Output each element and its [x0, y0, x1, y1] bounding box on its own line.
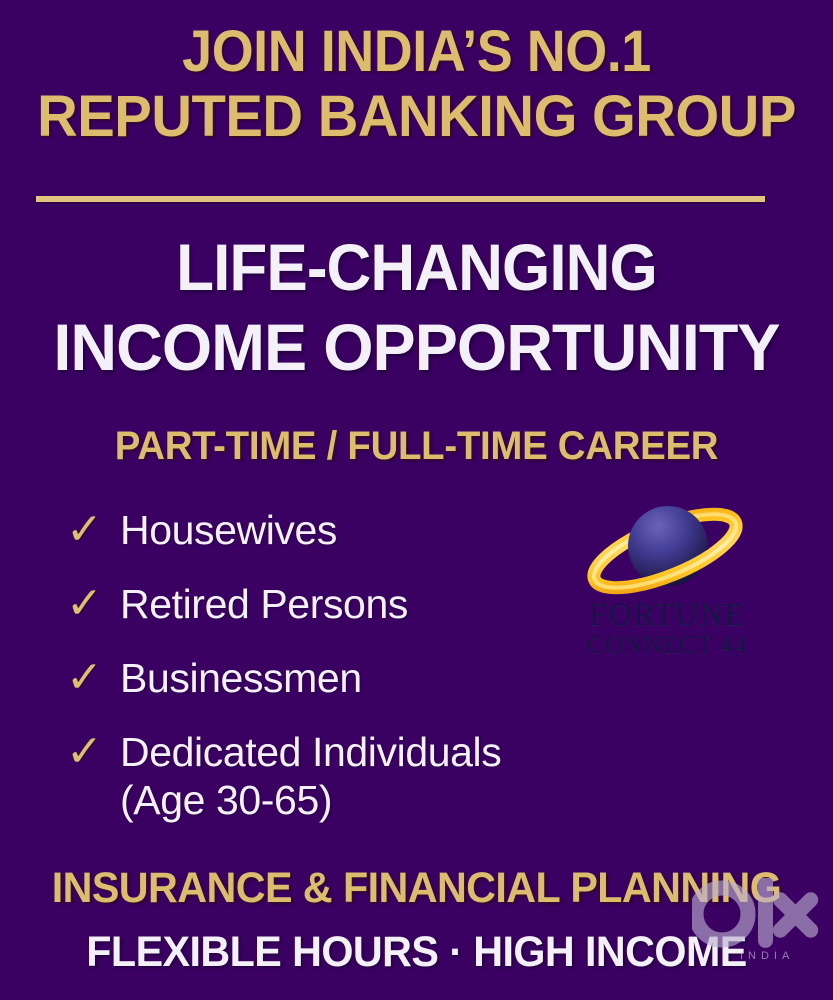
- saturn-planet-svg: [570, 498, 760, 603]
- gold-divider: [36, 196, 765, 202]
- list-item-label: Housewives: [120, 506, 337, 554]
- logo-wordmark: FORTUNE CONNECT 44: [560, 598, 775, 659]
- header-line-2: REPUTED BANKING GROUP: [12, 87, 820, 146]
- list-item: ✓ Businessmen: [66, 654, 626, 704]
- header-block: JOIN INDIA’S NO.1 REPUTED BANKING GROUP: [0, 22, 833, 146]
- list-item: ✓ Dedicated Individuals (Age 30-65): [66, 728, 626, 825]
- list-item-label: Dedicated Individuals: [120, 729, 501, 775]
- check-icon: ✓: [66, 728, 120, 774]
- check-icon: ✓: [66, 506, 120, 552]
- check-icon: ✓: [66, 580, 120, 626]
- list-item-age-range: (Age 30-65): [120, 776, 501, 824]
- header-line-1: JOIN INDIA’S NO.1: [29, 22, 804, 81]
- advertisement-poster: JOIN INDIA’S NO.1 REPUTED BANKING GROUP …: [0, 0, 833, 1000]
- headline-line-1: LIFE-CHANGING: [25, 234, 808, 300]
- headline-block: LIFE-CHANGING INCOME OPPORTUNITY: [0, 234, 833, 380]
- list-item-label-group: Dedicated Individuals (Age 30-65): [120, 728, 501, 825]
- list-item: ✓ Housewives: [66, 506, 626, 556]
- list-item: ✓ Retired Persons: [66, 580, 626, 630]
- logo-name-line-1: FORTUNE: [560, 598, 775, 632]
- list-item-label: Businessmen: [120, 654, 362, 702]
- check-icon: ✓: [66, 654, 120, 700]
- logo-name-line-2: CONNECT 44: [560, 633, 775, 659]
- footer-benefits-line: FLEXIBLE HOURS · HIGH INCOME: [17, 928, 817, 977]
- subhead-career-type: PART-TIME / FULL-TIME CAREER: [17, 424, 817, 469]
- footer-services-line: INSURANCE & FINANCIAL PLANNING: [17, 864, 817, 913]
- company-logo: FORTUNE CONNECT 44: [560, 498, 775, 678]
- list-item-label: Retired Persons: [120, 580, 408, 628]
- saturn-planet-icon: [570, 498, 760, 603]
- headline-line-2: INCOME OPPORTUNITY: [8, 314, 824, 380]
- audience-checklist: ✓ Housewives ✓ Retired Persons ✓ Busines…: [66, 506, 626, 825]
